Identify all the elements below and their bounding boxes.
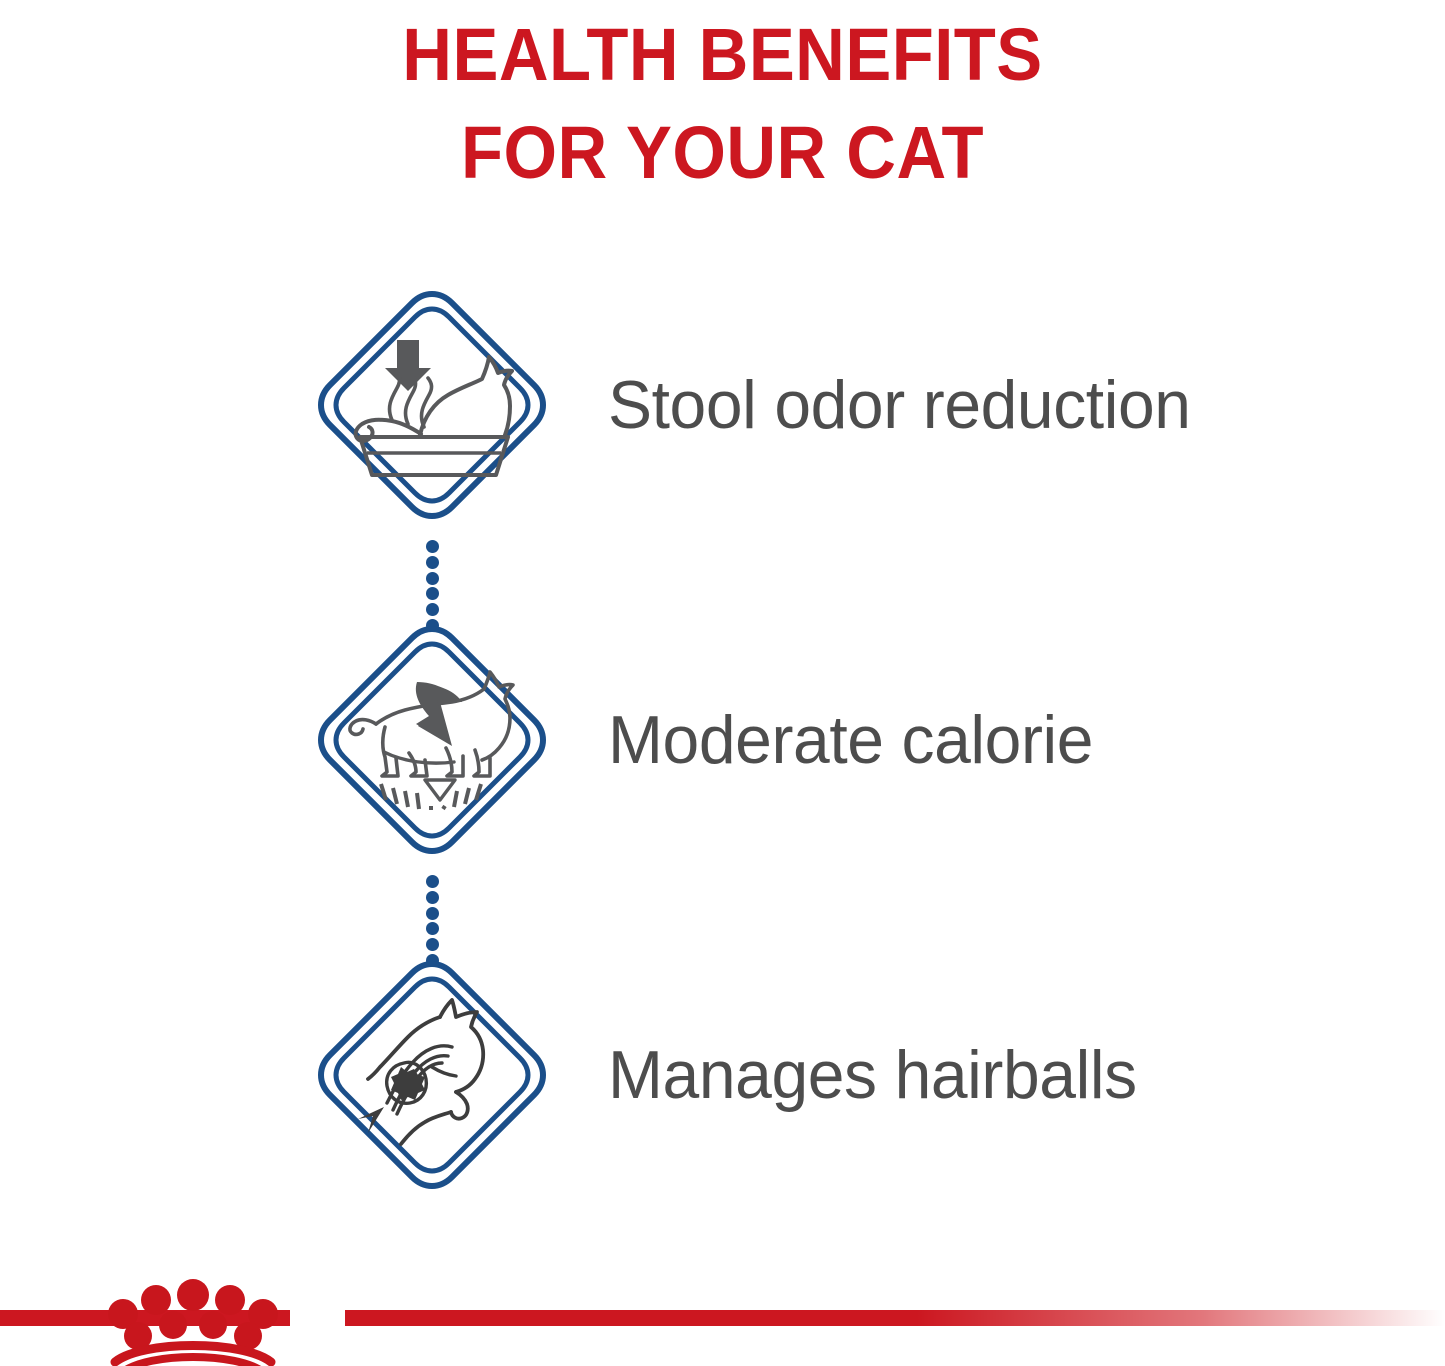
connector-dot — [426, 603, 439, 616]
benefit-item-moderate-calorie: Moderate calorie — [0, 620, 1445, 860]
connector-dot — [426, 572, 439, 585]
badge-manages-hairballs — [312, 955, 552, 1195]
benefit-label-stool-odor-reduction: Stool odor reduction — [608, 285, 1191, 525]
connector-dot — [426, 922, 439, 935]
benefit-label-moderate-calorie: Moderate calorie — [608, 620, 1093, 860]
connector-dot — [426, 875, 439, 888]
benefit-label-manages-hairballs: Manages hairballs — [608, 955, 1137, 1195]
footer — [0, 1296, 1445, 1363]
cat-litter-box-odor-icon — [312, 285, 552, 525]
footer-rule-right — [345, 1310, 1445, 1326]
royal-canin-crown-logo — [103, 1274, 283, 1366]
connector-dot — [426, 587, 439, 600]
page-title-line-1: HEALTH BENEFITS — [51, 6, 1395, 104]
badge-moderate-calorie — [312, 620, 552, 860]
cat-weight-scale-icon — [312, 620, 552, 860]
benefit-item-manages-hairballs: Manages hairballs — [0, 955, 1445, 1195]
connector-dot — [426, 938, 439, 951]
connector-dot — [426, 907, 439, 920]
cat-hairball-icon — [312, 955, 552, 1195]
connector-dot — [426, 556, 439, 569]
badge-stool-odor-reduction — [312, 285, 552, 525]
connector-dot — [426, 540, 439, 553]
connector-dots-1 — [419, 540, 445, 632]
benefit-item-stool-odor-reduction: Stool odor reduction — [0, 285, 1445, 525]
page-title: HEALTH BENEFITS FOR YOUR CAT — [0, 0, 1445, 201]
connector-dot — [426, 891, 439, 904]
page-title-line-2: FOR YOUR CAT — [51, 104, 1395, 202]
connector-dots-2 — [419, 875, 445, 967]
